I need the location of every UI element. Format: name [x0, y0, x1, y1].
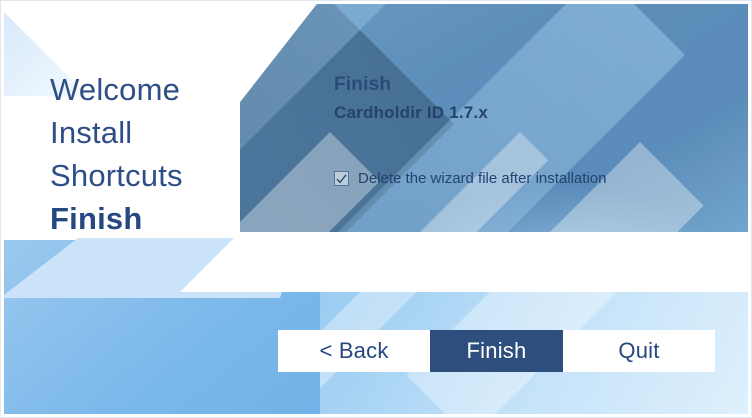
- delete-wizard-file-label: Delete the wizard file after installatio…: [358, 170, 606, 187]
- page-title: Finish: [334, 74, 391, 96]
- quit-button[interactable]: Quit: [563, 330, 715, 372]
- sidebar-item-finish[interactable]: Finish: [50, 197, 250, 240]
- delete-wizard-file-option-row[interactable]: Delete the wizard file after installatio…: [334, 170, 606, 187]
- sidebar-item-shortcuts[interactable]: Shortcuts: [50, 154, 250, 197]
- checkmark-icon: [336, 174, 347, 184]
- finish-button[interactable]: Finish: [430, 330, 563, 372]
- delete-wizard-file-checkbox[interactable]: [334, 171, 349, 186]
- wizard-button-bar: < Back Finish Quit: [278, 330, 715, 372]
- sidebar-item-welcome[interactable]: Welcome: [50, 68, 250, 111]
- wizard-step-list: Welcome Install Shortcuts Finish: [50, 68, 250, 240]
- page-subtitle: Cardholdir ID 1.7.x: [334, 103, 488, 123]
- sidebar-item-install[interactable]: Install: [50, 111, 250, 154]
- back-button[interactable]: < Back: [278, 330, 430, 372]
- background-white-middle-band: [180, 232, 752, 292]
- installer-wizard-window: Welcome Install Shortcuts Finish Finish …: [0, 0, 752, 418]
